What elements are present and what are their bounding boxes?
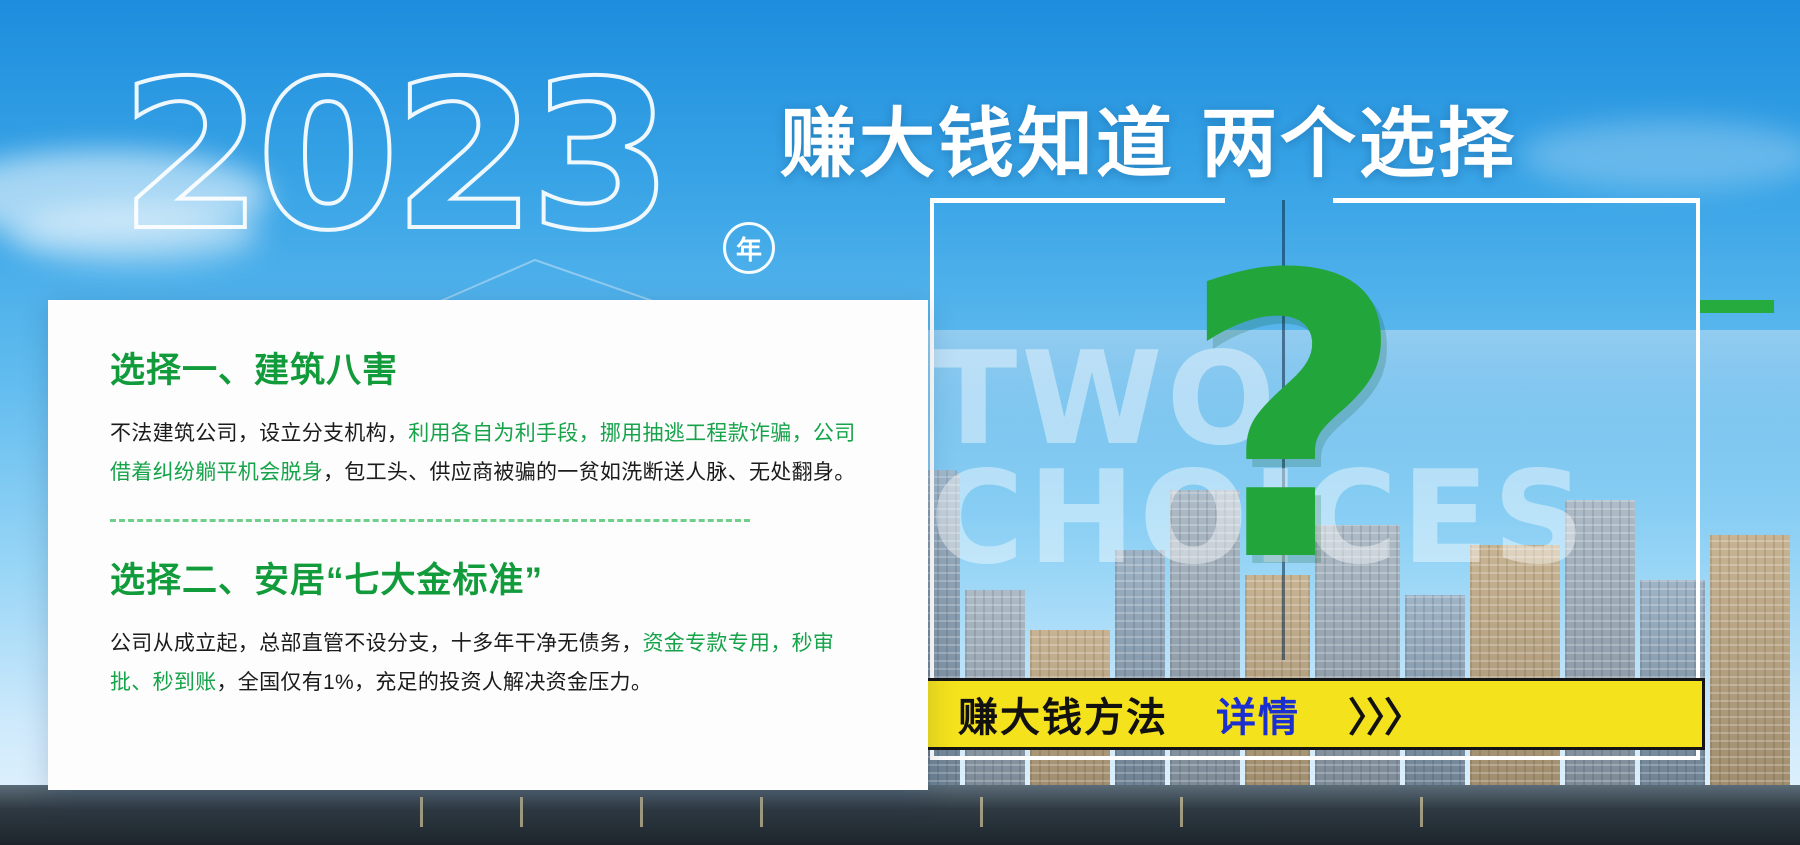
headline-part-1: 赚大钱知道: [780, 102, 1175, 187]
body-run: ，包工头、供应商被骗的一贫如洗断送人脉、无处翻身。: [323, 461, 856, 484]
cta-main-label: 赚大钱方法: [958, 685, 1168, 743]
card-section-two: 选择二、安居“七大金标准” 公司从成立起，总部直管不设分支，十多年干净无债务，资…: [110, 552, 872, 703]
body-run: 公司从成立起，总部直管不设分支，十多年干净无债务，: [110, 632, 643, 655]
body-run: 不法建筑公司，设立分支机构，: [110, 422, 408, 445]
green-edge-accent: [1700, 300, 1774, 313]
body-run: ，全国仅有1%，充足的投资人解决资金压力。: [217, 671, 653, 694]
section-two-title: 选择二、安居“七大金标准”: [110, 552, 872, 603]
page-title: 赚大钱知道两个选择: [780, 82, 1517, 192]
question-mark-graphic: ?: [1180, 225, 1406, 615]
card-section-one: 选择一、建筑八害 不法建筑公司，设立分支机构，利用各自为利手段，挪用抽逃工程款诈…: [110, 342, 872, 493]
promo-banner: 2023 年 赚大钱知道两个选择 TWO CHOICES ? 赚大钱方法 详情 …: [0, 0, 1800, 845]
cloud-decoration: [1520, 120, 1800, 190]
cta-bar[interactable]: 赚大钱方法 详情 〉〉〉: [925, 678, 1705, 750]
cta-details-link[interactable]: 详情: [1216, 685, 1300, 743]
section-one-body: 不法建筑公司，设立分支机构，利用各自为利手段，挪用抽逃工程款诈骗，公司借着纠纷躺…: [110, 415, 872, 493]
chevron-right-icon: 〉〉〉: [1348, 685, 1422, 743]
headline-part-2: 两个选择: [1201, 102, 1517, 187]
year-outline-text: 2023: [120, 55, 667, 260]
year-suffix-badge: 年: [723, 222, 775, 274]
section-one-title: 选择一、建筑八害: [110, 342, 872, 393]
waterfront-strip: [0, 785, 1800, 845]
section-two-body: 公司从成立起，总部直管不设分支，十多年干净无债务，资金专款专用，秒审批、秒到账，…: [110, 625, 872, 703]
section-divider: [110, 519, 750, 522]
content-card: 选择一、建筑八害 不法建筑公司，设立分支机构，利用各自为利手段，挪用抽逃工程款诈…: [48, 300, 928, 790]
